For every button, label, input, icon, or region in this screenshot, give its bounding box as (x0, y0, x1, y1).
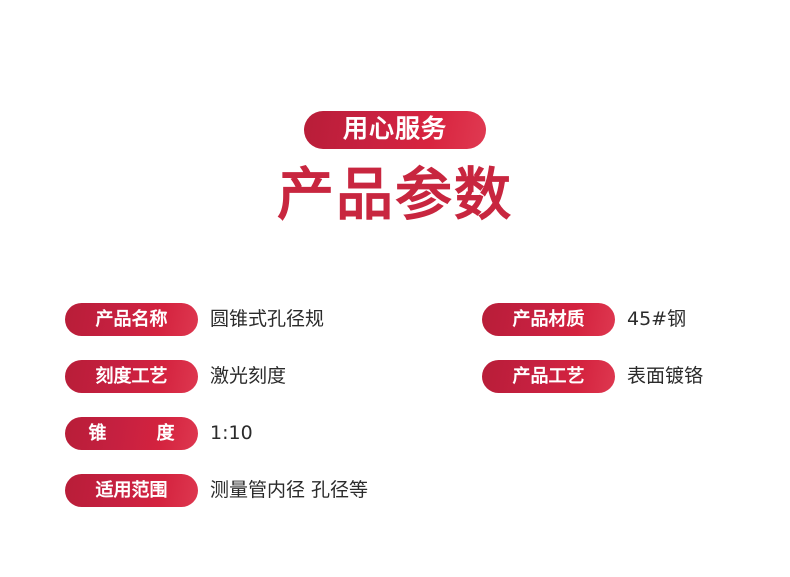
spec-value-surface-process: 表面镀铬 (627, 360, 703, 393)
spec-label-product-name: 产品名称 (65, 303, 198, 336)
spec-row: 锥度 1:10 (65, 417, 368, 450)
page-title-container: 产品参数 (0, 164, 790, 226)
spec-row: 产品工艺 表面镀铬 (482, 360, 703, 393)
spec-label-taper-text: 锥度 (89, 417, 175, 450)
spec-row: 产品名称 圆锥式孔径规 (65, 303, 368, 336)
spec-label-application-range: 适用范围 (65, 474, 198, 507)
spec-column-right: 产品材质 45#钢 产品工艺 表面镀铬 (482, 303, 703, 417)
spec-table: 产品名称 圆锥式孔径规 刻度工艺 激光刻度 锥度 1:10 适用范围 测量管内径… (0, 303, 790, 543)
spec-value-scale-process: 激光刻度 (210, 360, 286, 393)
spec-value-taper: 1:10 (210, 417, 253, 450)
spec-value-product-name: 圆锥式孔径规 (210, 303, 324, 336)
page-title: 产品参数 (277, 164, 513, 226)
spec-row: 适用范围 测量管内径 孔径等 (65, 474, 368, 507)
spec-value-application-range: 测量管内径 孔径等 (210, 474, 368, 507)
service-badge: 用心服务 (304, 111, 486, 149)
spec-label-taper: 锥度 (65, 417, 198, 450)
spec-label-surface-process: 产品工艺 (482, 360, 615, 393)
product-parameters-page: 用心服务 产品参数 产品名称 圆锥式孔径规 刻度工艺 激光刻度 锥度 1:10 … (0, 0, 790, 577)
spec-column-left: 产品名称 圆锥式孔径规 刻度工艺 激光刻度 锥度 1:10 适用范围 测量管内径… (65, 303, 368, 531)
spec-row: 产品材质 45#钢 (482, 303, 703, 336)
spec-value-material: 45#钢 (627, 303, 686, 336)
spec-label-scale-process: 刻度工艺 (65, 360, 198, 393)
spec-label-material: 产品材质 (482, 303, 615, 336)
spec-row: 刻度工艺 激光刻度 (65, 360, 368, 393)
service-badge-container: 用心服务 (0, 111, 790, 149)
